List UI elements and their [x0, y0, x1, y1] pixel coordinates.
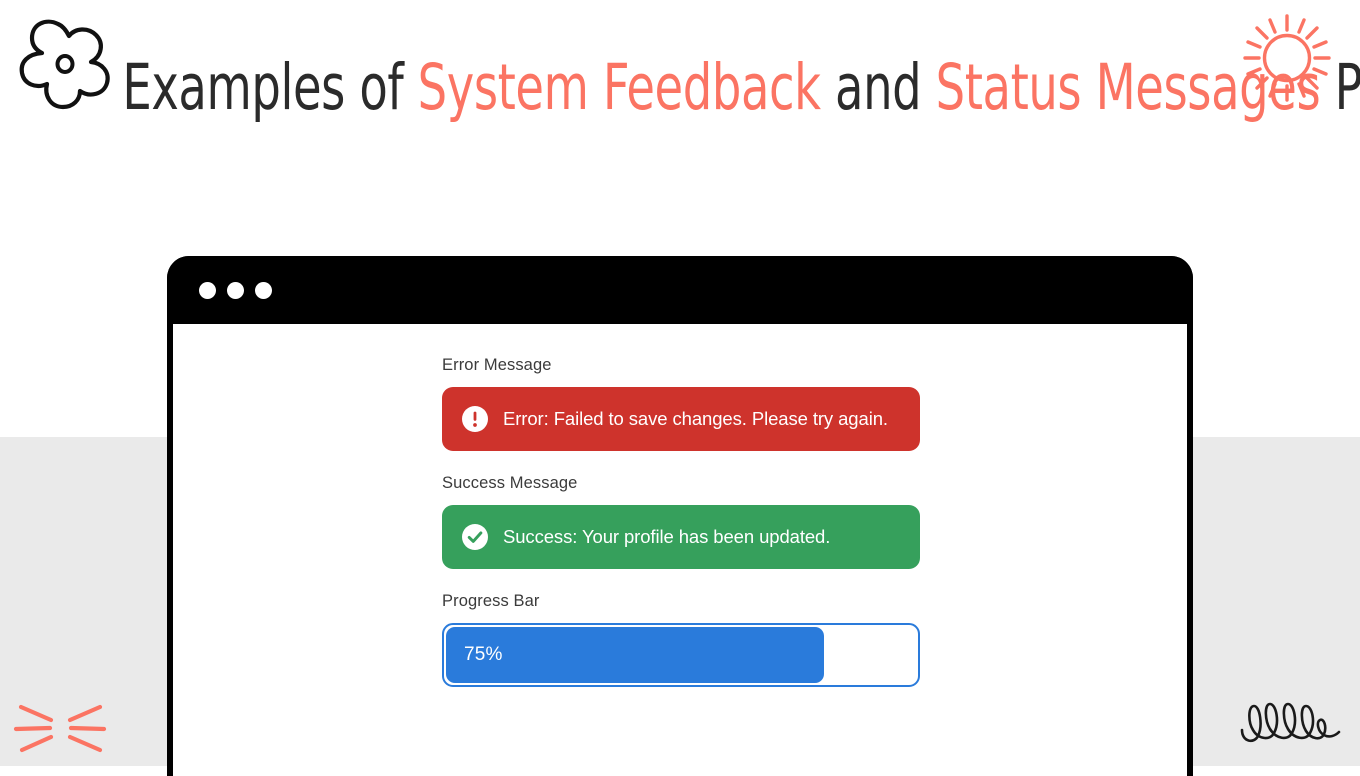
title-segment-2: and — [821, 51, 936, 124]
status-messages-demo-column: Error Message Error: Failed to save chan… — [442, 356, 920, 710]
window-dot-minimize-icon[interactable] — [227, 282, 244, 299]
error-alert-banner[interactable]: Error: Failed to save changes. Please tr… — [442, 387, 920, 451]
window-dot-close-icon[interactable] — [199, 282, 216, 299]
success-alert-text: Success: Your profile has been updated. — [503, 526, 830, 548]
squiggle-loops-icon — [1236, 696, 1346, 754]
success-message-block: Success Message Success: Your profile ha… — [442, 474, 920, 569]
success-alert-banner[interactable]: Success: Your profile has been updated. — [442, 505, 920, 569]
progress-bar-fill: 75% — [446, 627, 824, 683]
progress-bar-value: 75% — [464, 644, 503, 666]
browser-titlebar — [167, 256, 1193, 324]
title-segment-4: Patterns — [1320, 51, 1360, 124]
error-message-block: Error Message Error: Failed to save chan… — [442, 356, 920, 451]
check-circle-icon — [462, 524, 488, 550]
title-segment-1: System Feedback — [418, 51, 821, 124]
error-message-label: Error Message — [442, 356, 920, 375]
title-segment-0: Examples of — [122, 51, 417, 124]
progress-bar-block: Progress Bar 75% — [442, 592, 920, 687]
progress-bar-label: Progress Bar — [442, 592, 920, 611]
page-title: Examples of System Feedback and Status M… — [122, 46, 1237, 129]
title-segment-3: Status Messages — [936, 51, 1321, 124]
browser-window-mockup: Error Message Error: Failed to save chan… — [167, 256, 1193, 776]
sparkle-lines-icon — [8, 698, 112, 760]
flower-icon — [14, 12, 118, 114]
progress-bar-track[interactable]: 75% — [442, 623, 920, 687]
error-alert-text: Error: Failed to save changes. Please tr… — [503, 408, 888, 430]
alert-circle-icon — [462, 406, 488, 432]
success-message-label: Success Message — [442, 474, 920, 493]
browser-content-area: Error Message Error: Failed to save chan… — [173, 324, 1187, 776]
window-dot-maximize-icon[interactable] — [255, 282, 272, 299]
